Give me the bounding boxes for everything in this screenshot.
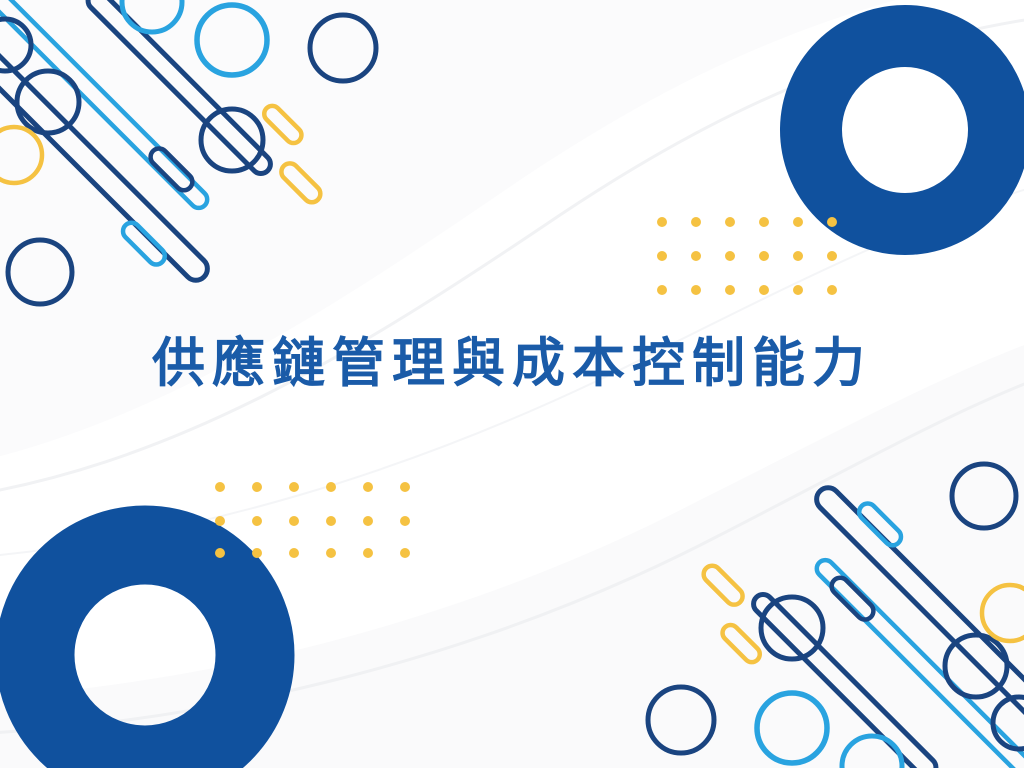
presentation-slide: 供應鏈管理與成本控制能力 — [0, 0, 1024, 768]
slide-title: 供應鏈管理與成本控制能力 — [152, 336, 872, 392]
slide-title-block: 供應鏈管理與成本控制能力 — [0, 336, 1024, 392]
